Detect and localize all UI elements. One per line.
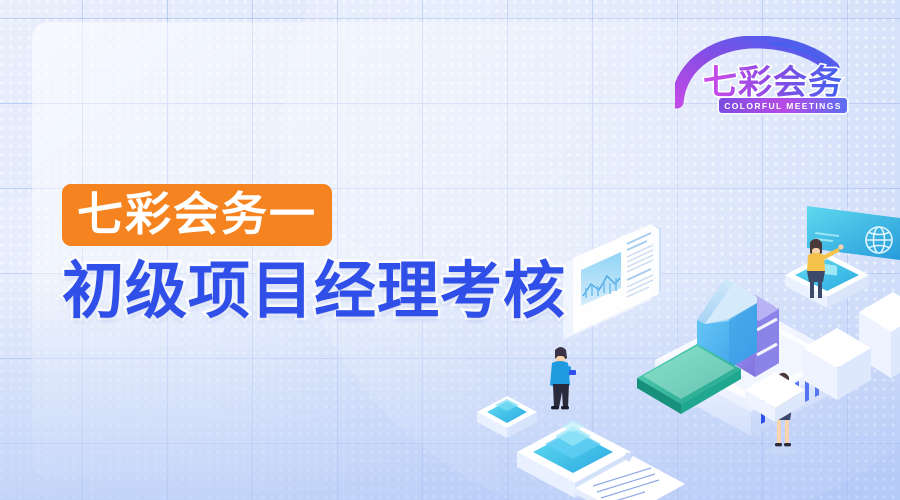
dashboard-panel xyxy=(563,224,661,340)
page-title: 初级项目经理考核 xyxy=(62,258,566,324)
logo-name: 七彩会务 xyxy=(703,63,843,103)
logo-tagline: COLORFUL MEETINGS xyxy=(724,101,842,111)
brand-logo[interactable]: 七彩会务 COLORFUL MEETINGS xyxy=(675,36,860,124)
man-with-tablet xyxy=(544,347,576,417)
globe-screen-group xyxy=(785,206,900,308)
promo-banner: 七彩会务 COLORFUL MEETINGS 七彩会务一 初级项目经理考核 xyxy=(0,0,900,500)
headline-tag-box: 七彩会务一 xyxy=(62,184,332,246)
headline-block: 七彩会务一 初级项目经理考核 xyxy=(62,184,566,324)
logo-tagline-badge: COLORFUL MEETINGS xyxy=(719,98,847,113)
man-legs xyxy=(553,384,569,408)
man-tablet xyxy=(569,370,576,375)
headline-tag-text: 七彩会务一 xyxy=(77,190,317,238)
